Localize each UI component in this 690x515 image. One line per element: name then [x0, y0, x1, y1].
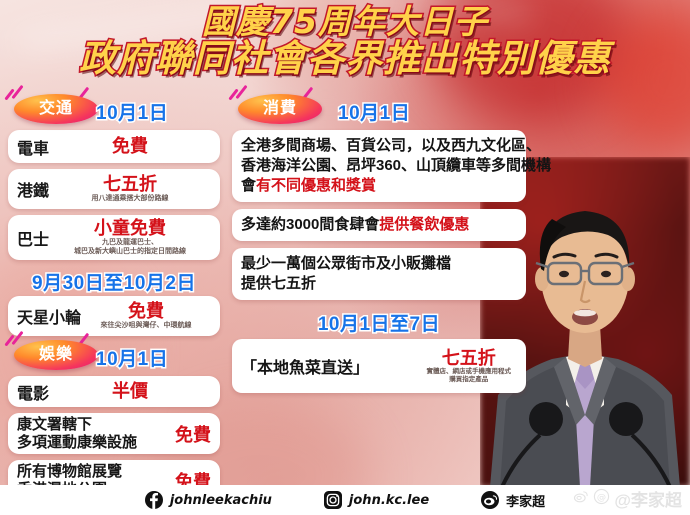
row-value-main: 免費	[128, 301, 164, 321]
consumption-block-1: 全港多間商場、百貨公司，以及西九文化區、 香港海洋公園、昂坪360、山頂纜車等多…	[232, 130, 526, 202]
table-row: 巴士 小童免費 九巴及龍運巴士、 城巴及新大嶼山巴士的指定日間路線	[8, 215, 220, 260]
row-label-line2: 多項運動康樂設施	[17, 434, 137, 452]
paragraph-highlight: 有不同優惠和獎賞	[256, 177, 376, 194]
entertainment-section-header: 娛樂 10月1日	[8, 342, 220, 372]
watermark-text: @李家超	[614, 486, 682, 511]
row-subtext: 來往尖沙咀與灣仔、中環航線	[81, 322, 211, 331]
badge-consumption: 消費	[238, 94, 322, 124]
paragraph-line: 最少一萬個公眾街市及小販攤檔	[241, 254, 517, 274]
table-row: 康文署轄下 多項運動康樂設施 免費	[8, 413, 220, 454]
consumption-section-header: 消費 10月1日	[232, 96, 526, 126]
row-label: 天星小輪	[17, 304, 81, 328]
left-column: 交通 10月1日 電車 免費 港鐵 七五折 用八達通乘搭大部份路線 巴士 小童免…	[8, 96, 220, 507]
row-value-main: 七五折	[427, 349, 512, 368]
row-subtext-line2: 購買指定產品	[427, 376, 512, 384]
weibo-icon	[572, 488, 589, 510]
ferry-date: 9月30日至10月2日	[8, 268, 220, 295]
facebook-icon	[145, 491, 163, 509]
table-row: 港鐵 七五折 用八達通乘搭大部份路線	[8, 169, 220, 209]
row-label: 康文署轄下 多項運動康樂設施	[17, 416, 137, 452]
badge-transport: 交通	[14, 94, 98, 124]
row-value-main: 小童免費	[94, 218, 166, 238]
fish-date-header: 10月1日至7日	[232, 307, 526, 335]
row-value: 半價	[49, 382, 211, 401]
social-facebook[interactable]: johnleekachiu	[145, 491, 272, 509]
row-value: 免費	[49, 137, 211, 156]
weibo-badge-icon: @	[593, 488, 610, 510]
instagram-handle: john.kc.lee	[349, 493, 429, 508]
svg-text:@: @	[597, 492, 606, 503]
row-value: 七五折 用八達通乘搭大部份路線	[49, 175, 211, 204]
row-label: 巴士	[17, 226, 49, 250]
row-label-line1: 所有博物館展覽	[17, 463, 122, 481]
paragraph-plain: 會	[241, 177, 256, 194]
row-label: 電車	[17, 135, 49, 159]
paragraph-line: 會有不同優惠和獎賞	[241, 176, 517, 196]
transport-date: 10月1日	[96, 98, 168, 125]
social-instagram[interactable]: john.kc.lee	[324, 491, 429, 509]
row-subtext: 九巴及龍運巴士、 城巴及新大嶼山巴士的指定日間路線	[49, 239, 211, 256]
weibo-watermark: @ @李家超	[572, 486, 682, 511]
poster-root: 國慶75周年大日子 政府聯同社會各界推出特別優惠 交通 10月1日 電車 免費 …	[0, 0, 690, 515]
facebook-handle: johnleekachiu	[170, 493, 272, 508]
row-subtext: 用八達通乘搭大部份路線	[49, 195, 211, 204]
row-value: 免費	[167, 421, 211, 447]
consumption-block-2: 多達約3000間食肆會提供餐飲優惠	[232, 209, 526, 241]
row-label: 電影	[17, 380, 49, 404]
title-line-1: 國慶75周年大日子	[0, 4, 690, 40]
consumption-date-2: 10月1日至7日	[232, 309, 526, 336]
table-row: 天星小輪 免費 來往尖沙咀與灣仔、中環航線	[8, 296, 220, 336]
weibo-handle: 李家超	[506, 491, 545, 510]
row-subtext-line1: 實體店、網店或手機應用程式	[427, 368, 512, 376]
row-value-main: 七五折	[103, 174, 157, 194]
paragraph-plain: 多達約3000間食肆會	[241, 216, 379, 233]
fish-delivery-row: 「本地魚菜直送」 七五折 實體店、網店或手機應用程式 購買指定產品	[232, 339, 526, 393]
row-value: 小童免費 九巴及龍運巴士、 城巴及新大嶼山巴士的指定日間路線	[49, 219, 211, 256]
paragraph-line: 全港多間商場、百貨公司，以及西九文化區、	[241, 136, 517, 156]
poster-title: 國慶75周年大日子 政府聯同社會各界推出特別優惠	[0, 4, 690, 79]
consumption-date: 10月1日	[338, 98, 410, 125]
paragraph-highlight: 提供七五折	[241, 274, 517, 294]
table-row: 電影 半價	[8, 376, 220, 407]
consumption-block-3: 最少一萬個公眾街市及小販攤檔 提供七五折	[232, 248, 526, 300]
badge-entertainment: 娛樂	[14, 340, 98, 370]
table-row: 電車 免費	[8, 130, 220, 163]
weibo-icon	[481, 491, 499, 509]
entertainment-date: 10月1日	[96, 344, 168, 371]
title-line-2: 政府聯同社會各界推出特別優惠	[0, 38, 690, 79]
row-value: 七五折 實體店、網店或手機應用程式 購買指定產品	[427, 349, 518, 384]
paragraph-line: 香港海洋公園、昂坪360、山頂纜車等多間機構	[241, 156, 517, 176]
row-label: 「本地魚菜直送」	[241, 354, 369, 378]
paragraph-highlight: 提供餐飲優惠	[379, 216, 469, 233]
row-value: 免費 來往尖沙咀與灣仔、中環航線	[81, 302, 211, 331]
instagram-icon	[324, 491, 342, 509]
paragraph-line: 多達約3000間食肆會提供餐飲優惠	[241, 215, 517, 235]
row-label: 港鐵	[17, 177, 49, 201]
transport-section-header: 交通 10月1日	[8, 96, 220, 126]
row-label-line1: 康文署轄下	[17, 416, 137, 434]
social-weibo[interactable]: 李家超	[481, 491, 545, 510]
ferry-date-header: 9月30日至10月2日	[8, 266, 220, 292]
right-column: 消費 10月1日 全港多間商場、百貨公司，以及西九文化區、 香港海洋公園、昂坪3…	[232, 96, 526, 400]
